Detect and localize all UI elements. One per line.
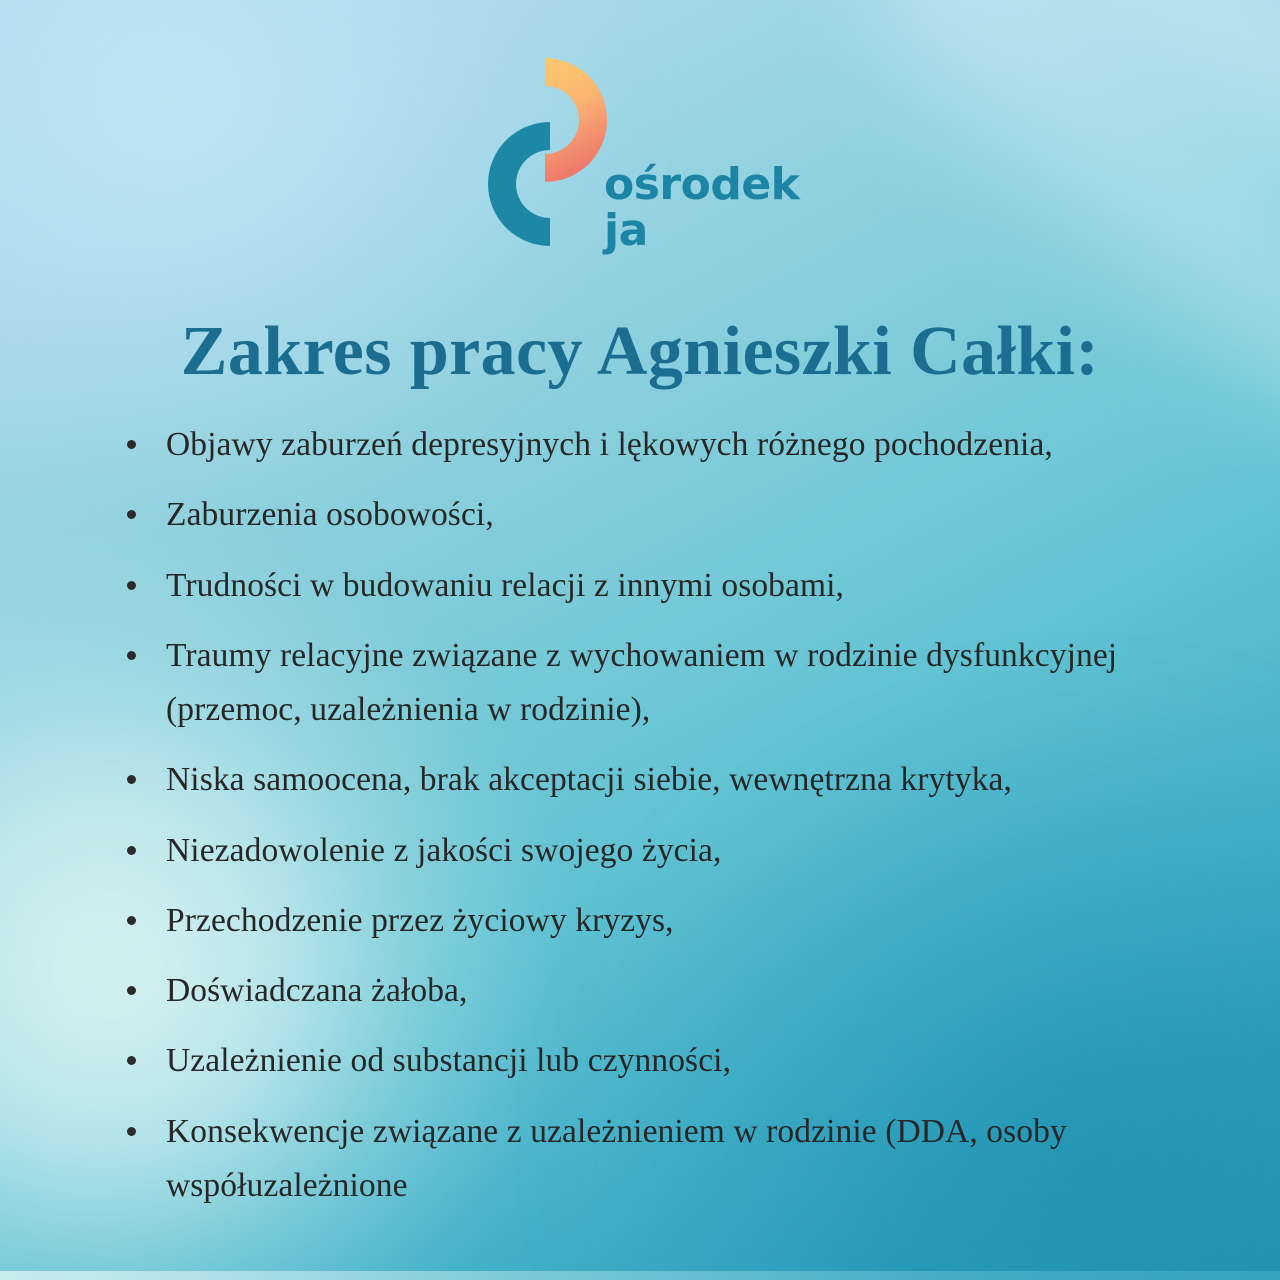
list-item: Uzależnienie od substancji lub czynności… (118, 1034, 1208, 1088)
brand-logo: ośrodek ja (482, 50, 812, 290)
list-item: Zaburzenia osobowości, (118, 488, 1208, 542)
list-item: Przechodzenie przez życiowy kryzys, (118, 894, 1208, 948)
list-item: Niska samoocena, brak akceptacji siebie,… (118, 753, 1208, 807)
list-item: Trudności w budowaniu relacji z innymi o… (118, 559, 1208, 613)
list-item: Doświadczana żałoba, (118, 964, 1208, 1018)
wordmark-line-1: ośrodek (604, 159, 799, 210)
poster-canvas: ośrodek ja Zakres pracy Agnieszki Całki:… (0, 0, 1280, 1280)
osrodek-ja-logo-icon (482, 50, 607, 255)
list-item: Konsekwencje związane z uzależnieniem w … (118, 1105, 1208, 1214)
brand-wordmark: ośrodek ja (604, 163, 799, 252)
list-item: Objawy zaburzeń depresyjnych i lękowych … (118, 418, 1208, 472)
scope-of-work-list: Objawy zaburzeń depresyjnych i lękowych … (118, 418, 1208, 1229)
background-bottom-strip (0, 1271, 1280, 1280)
list-item: Niezadowolenie z jakości swojego życia, (118, 824, 1208, 878)
list-item: Traumy relacyjne związane z wychowaniem … (118, 629, 1208, 738)
page-title: Zakres pracy Agnieszki Całki: (0, 312, 1280, 392)
wordmark-line-2: ja (604, 209, 799, 252)
